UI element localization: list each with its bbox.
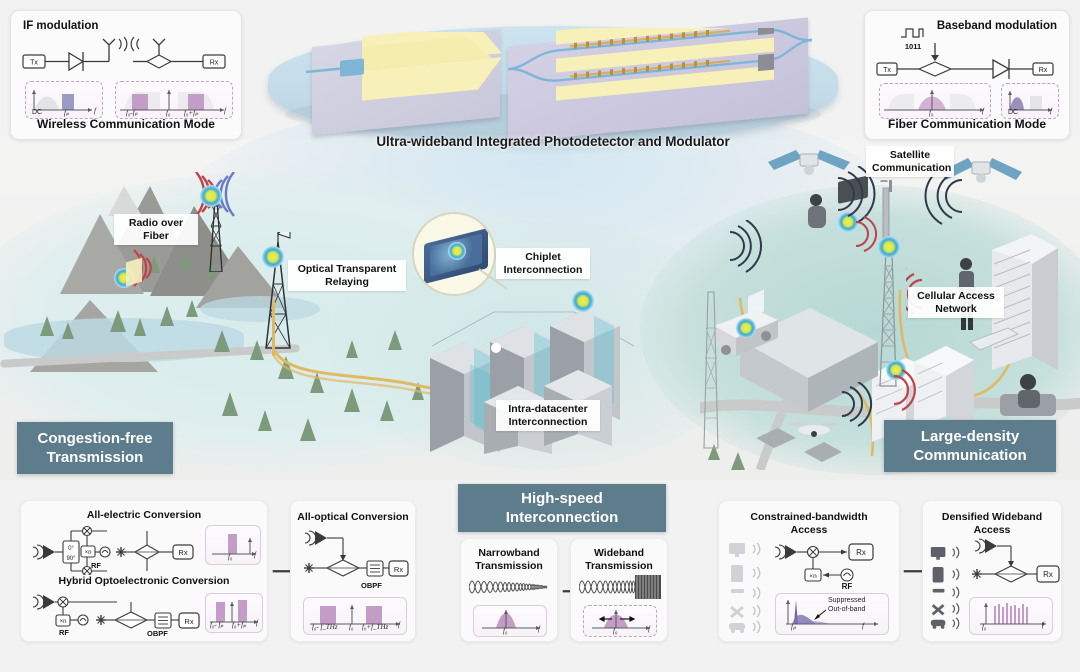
optical-node-relay (262, 246, 284, 268)
panel-wideband-transmission: Wideband Transmission (570, 538, 668, 642)
spectrum-densified-wideband: f₀ f (969, 597, 1053, 635)
svg-text:0°: 0° (68, 546, 74, 552)
title-line1: Wideband (571, 547, 667, 560)
svg-text:OBPF: OBPF (147, 629, 168, 637)
van-waves (708, 220, 768, 280)
title-all-optical-conversion: All-optical Conversion (291, 511, 415, 524)
desk-waves (830, 212, 886, 258)
svg-text:×n: ×n (60, 619, 67, 625)
label-satellite-communication: Satellite Communication (866, 146, 954, 177)
waveform-wideband (579, 575, 663, 599)
badge-line1: Large-density (913, 427, 1026, 446)
badge-line1: Congestion-free (37, 429, 152, 448)
spec-label-f0-minus-fp: f₀- fₚ (210, 621, 223, 629)
spectrum-constrained-bandwidth: Suppressed Out-of-band fₚ f (775, 593, 889, 635)
label-line2: Network (914, 303, 998, 316)
annotation-suppressed: Suppressed (828, 597, 865, 604)
spectrum-fiber-optical: f₀ f (879, 83, 991, 119)
title-densified-wideband-access: Densified Wideband Access (923, 511, 1061, 537)
spec-label-f0: f₀ (982, 623, 986, 631)
spec-label-f0: f₀ (613, 627, 617, 635)
svg-text:RF: RF (59, 628, 69, 637)
figure-canvas: Radio over Fiber Optical Transparent Rel… (0, 0, 1080, 672)
label-cellular-access-network: Cellular Access Network (908, 287, 1004, 318)
spec-label-f: f (862, 622, 864, 630)
spec-label-f0-minus-fthz: f₀- f_THz (312, 623, 338, 631)
spec-label-f: f (256, 619, 258, 627)
label-radio-over-fiber: Radio over Fiber (114, 214, 198, 245)
svg-text:1011: 1011 (905, 42, 921, 51)
label-line1: Intra-datacenter (502, 403, 594, 416)
spectrum-narrowband: f₀ f (473, 605, 547, 637)
waveform-narrowband (469, 575, 553, 599)
label-line2: Relaying (294, 276, 400, 289)
badge-high-speed-interconnection: High-speed Interconnection (458, 484, 666, 532)
panel-fiber-communication-mode: Baseband modulation 1011 Tx Rx (864, 10, 1070, 140)
svg-text:×n: ×n (809, 573, 817, 580)
spectrum-all-optical: f₀- f_THz f₀ f₀+f_THz f (303, 597, 407, 635)
spec-label-dc: DC (1008, 109, 1018, 116)
panel-densified-wideband-access: Densified Wideband Access (922, 500, 1062, 642)
label-line1: Satellite (872, 149, 948, 162)
device-icon-column-densified (929, 541, 969, 633)
edge-tower (692, 288, 728, 448)
spec-label-f0: f₀ (503, 627, 507, 635)
spec-label-f: f (94, 107, 96, 115)
label-line1: Radio over (120, 217, 192, 230)
schematic-hybrid-optoelectronic: ×n RF Rx OBPF (31, 591, 211, 637)
title-line2: Access (923, 524, 1061, 537)
annotation-out-of-band: Out-of-band (828, 606, 865, 613)
svg-text:RF: RF (91, 561, 101, 570)
spec-label-dc: DC (32, 109, 42, 116)
svg-text:Rx: Rx (178, 548, 187, 557)
panel-all-optical-conversion: All-optical Conversion Rx OBPF (290, 500, 416, 642)
svg-text:Rx: Rx (394, 565, 403, 574)
badge-large-density-communication: Large-density Communication (884, 420, 1056, 472)
fiber-link-schematic: 1011 Tx Rx (873, 25, 1065, 81)
title-line1: Densified Wideband (923, 511, 1061, 524)
svg-text:Tx: Tx (30, 60, 38, 67)
spec-label-f0: f₀ (349, 623, 353, 631)
fiber-link-relay (272, 300, 275, 356)
title-line2: Transmission (461, 560, 557, 573)
label-line2: Communication (872, 162, 948, 175)
panel-narrowband-transmission: Narrowband Transmission f₀ f (460, 538, 558, 642)
spec-label-f0-minus-fp: f₀-fₚ (126, 109, 138, 117)
title-narrowband-transmission: Narrowband Transmission (461, 547, 557, 573)
solar-panel (126, 258, 142, 287)
label-intra-datacenter-interconnection: Intra-datacenter Interconnection (496, 400, 600, 431)
optical-node-van (736, 318, 756, 338)
badge-line2: Interconnection (506, 508, 619, 527)
spec-label-f: f (254, 551, 256, 559)
title-line1: Narrowband (461, 547, 557, 560)
title-line1: Constrained-bandwidth (719, 511, 899, 524)
label-chiplet-interconnection: Chiplet Interconnection (496, 248, 590, 279)
spec-label-f0-plus-fp: f₀+fₚ (184, 109, 198, 117)
title-line2: Access (719, 524, 899, 537)
photonic-chip-illustration: Ultra-wideband Integrated Photodetector … (268, 14, 838, 152)
spec-label-f: f (398, 621, 400, 629)
spec-label-f: f (982, 107, 984, 115)
svg-text:Tx: Tx (883, 67, 891, 74)
title-all-electric-conversion: All-electric Conversion (21, 509, 267, 522)
spectrum-wideband: f₀ f (583, 605, 657, 637)
spectrum-all-electric: f₀ f (205, 525, 261, 565)
spec-label-f0-plus-fp: f₀+fₚ (232, 621, 246, 629)
badge-line1: High-speed (506, 489, 619, 508)
title-hybrid-optoelectronic-conversion: Hybrid Optoelectronic Conversion (21, 575, 267, 588)
panel-wireless-communication-mode: IF modulation Tx Rx (10, 10, 242, 140)
spec-label-f0: f₀ (166, 109, 170, 117)
spec-label-f: f (538, 625, 540, 633)
title-constrained-bandwidth-access: Constrained-bandwidth Access (719, 511, 899, 537)
svg-text:90°: 90° (66, 556, 76, 562)
badge-line2: Transmission (37, 448, 152, 467)
chiplet-magnifier (412, 212, 496, 296)
badge-congestion-free-transmission: Congestion-free Transmission (17, 422, 173, 474)
svg-text:×n: ×n (85, 550, 92, 556)
optical-node-left (200, 185, 222, 207)
title-line2: Transmission (571, 560, 667, 573)
spectrum-fiber-baseband: DC f (1001, 83, 1059, 119)
device-icon-column (727, 541, 771, 633)
schematic-all-optical: Rx OBPF (299, 527, 411, 591)
svg-text:Rx: Rx (1043, 570, 1053, 579)
svg-text:OBPF: OBPF (361, 581, 382, 590)
spec-label-f: f (224, 107, 226, 115)
badge-line2: Communication (913, 446, 1026, 465)
spec-label-f0: f₀ (228, 553, 232, 561)
spec-label-f0: f₀ (929, 109, 933, 117)
spec-label-f: f (1042, 621, 1044, 629)
spec-label-f: f (1050, 107, 1052, 115)
title-wideband-transmission: Wideband Transmission (571, 547, 667, 573)
spec-label-fp: fₚ (64, 109, 69, 117)
optical-node-datacenter (572, 290, 594, 312)
photodetector-structure (306, 32, 512, 132)
panel-footer-fiber-mode: Fiber Communication Mode (865, 117, 1069, 131)
spec-label-fp: fₚ (791, 623, 796, 631)
spectrum-if-baseband: DC fₚ f (25, 81, 103, 119)
panel-constrained-bandwidth-access: Constrained-bandwidth Access (718, 500, 900, 642)
svg-text:RF: RF (842, 582, 853, 589)
label-line2: Interconnection (502, 416, 594, 429)
wireless-link-schematic: Tx Rx (21, 37, 233, 77)
modulator-structure (500, 28, 816, 130)
label-line1: Cellular Access (914, 290, 998, 303)
svg-text:Rx: Rx (1039, 67, 1048, 74)
spectrum-if-sidebands: f₀-fₚ f₀ f₀+fₚ f (115, 81, 233, 119)
chip-caption: Ultra-wideband Integrated Photodetector … (268, 134, 838, 149)
panel-footer-wireless-mode: Wireless Communication Mode (11, 117, 241, 131)
spec-label-f0-plus-fthz: f₀+f_THz (362, 623, 388, 631)
schematic-all-electric: 0° 90° ×n (31, 523, 201, 575)
schematic-densified-wideband: Rx (969, 537, 1061, 593)
svg-text:Rx: Rx (184, 617, 193, 626)
label-line1: Chiplet (502, 251, 584, 264)
spec-label-f: f (648, 625, 650, 633)
panel-conversion-legacy: All-electric Conversion 0° 90° ×n (20, 500, 268, 642)
panel-title-if-modulation: IF modulation (23, 20, 98, 32)
label-line2: Interconnection (502, 264, 584, 277)
drone-waves (820, 382, 880, 432)
schematic-constrained-bandwidth: Rx ×n RF (773, 541, 895, 589)
label-line2: Fiber (120, 230, 192, 243)
label-optical-transparent-relaying: Optical Transparent Relaying (288, 260, 406, 291)
svg-text:Rx: Rx (856, 548, 866, 557)
label-line1: Optical Transparent (294, 263, 400, 276)
spectrum-hybrid-optoelectronic: f₀- fₚ f₀+fₚ f (205, 593, 263, 633)
svg-text:Rx: Rx (210, 60, 219, 67)
satellite-link-right (914, 168, 974, 228)
